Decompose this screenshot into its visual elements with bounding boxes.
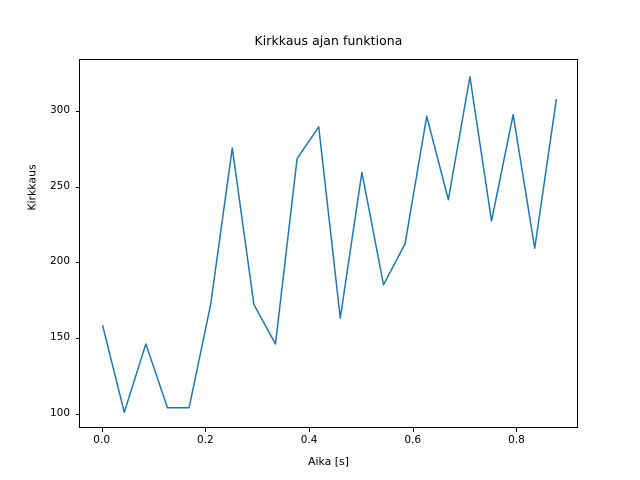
x-tick-label: 0.0: [82, 434, 122, 446]
x-tick-label: 0.2: [185, 434, 225, 446]
matplotlib-figure: Kirkkaus ajan funktiona 0.00.20.40.60.8 …: [0, 0, 640, 480]
x-tick-mark: [516, 428, 517, 432]
x-tick-label: 0.6: [393, 434, 433, 446]
data-line-chart: [80, 60, 579, 429]
y-tick-label: 100: [24, 407, 70, 419]
x-tick-mark: [102, 428, 103, 432]
x-tick-label: 0.4: [289, 434, 329, 446]
x-tick-label: 0.8: [496, 434, 536, 446]
y-tick-label: 150: [24, 331, 70, 343]
y-tick-label: 200: [24, 255, 70, 267]
y-tick-mark: [76, 111, 80, 112]
y-axis-label: Kirkkaus: [26, 128, 39, 248]
y-tick-mark: [76, 262, 80, 263]
x-tick-mark: [205, 428, 206, 432]
page-title: Kirkkaus ajan funktiona: [79, 33, 578, 48]
data-series-line: [103, 77, 557, 413]
x-tick-mark: [309, 428, 310, 432]
x-tick-mark: [413, 428, 414, 432]
x-axis-label: Aika [s]: [79, 455, 578, 468]
y-tick-mark: [76, 338, 80, 339]
plot-area: [79, 59, 578, 428]
y-tick-label: 300: [24, 104, 70, 116]
y-tick-mark: [76, 414, 80, 415]
y-tick-mark: [76, 187, 80, 188]
